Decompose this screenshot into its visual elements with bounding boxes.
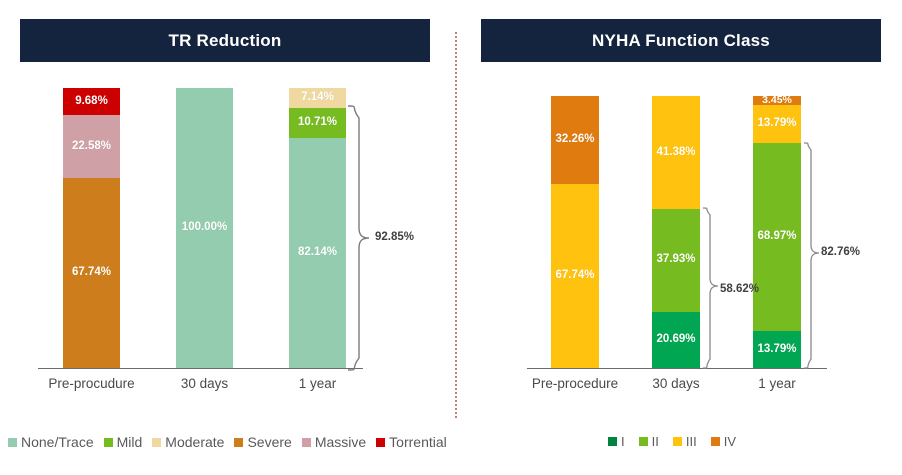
legend-item-mild[interactable]: Mild — [104, 434, 143, 450]
bar-segment-label: 32.26% — [555, 134, 594, 146]
bar-segment-none-trace[interactable]: 82.14% — [289, 138, 346, 368]
legend-item-class-ii[interactable]: II — [639, 434, 659, 449]
bar-segment-label: 22.58% — [72, 141, 111, 153]
bar-segment-label: 9.68% — [75, 96, 108, 108]
bar-segment-torrential[interactable]: 9.68% — [63, 88, 120, 115]
bar-segment-label: 13.79% — [757, 344, 796, 356]
x-axis-label-1-year: 1 year — [727, 376, 827, 391]
x-axis-label-30-days: 30 days — [626, 376, 726, 391]
bar-segment-mild[interactable]: 10.71% — [289, 108, 346, 138]
bar-segment-label: 20.69% — [656, 334, 695, 346]
bar-segment-label: 7.14% — [301, 92, 334, 104]
bar-segment-none-trace[interactable]: 100.00% — [176, 88, 233, 368]
legend-label: Moderate — [165, 434, 224, 450]
bar-segment-class-ii[interactable]: 68.97% — [753, 143, 801, 331]
x-axis-label-30-days: 30 days — [154, 376, 255, 391]
bar-pre-procedure[interactable]: 67.74% 32.26% — [551, 96, 599, 368]
chart-panel-tr-reduction: TR Reduction 67.74% 22.58% 9.68% 100.00% — [0, 0, 451, 475]
bar-30-days[interactable]: 20.69% 37.93% 41.38% — [652, 96, 700, 368]
bar-segment-class-iv[interactable]: 32.26% — [551, 96, 599, 184]
legend-item-torrential[interactable]: Torrential — [376, 434, 447, 450]
bar-segment-moderate[interactable]: 7.14% — [289, 88, 346, 108]
legend-item-moderate[interactable]: Moderate — [152, 434, 224, 450]
legend-label: Severe — [247, 434, 291, 450]
legend-swatch-icon — [8, 438, 17, 447]
annotation-brace-92-85 — [347, 104, 373, 372]
plot-area-nyha: 67.74% 32.26% 20.69% 37.93% 41.38% 13.79… — [451, 0, 902, 420]
annotation-label-92-85: 92.85% — [375, 231, 414, 243]
legend-label: Mild — [117, 434, 143, 450]
x-axis-label-pre-procudure: Pre-procudure — [41, 376, 142, 391]
bar-pre-procudure[interactable]: 67.74% 22.58% 9.68% — [63, 88, 120, 368]
bar-segment-class-iv[interactable]: 3.45% — [753, 96, 801, 105]
bar-segment-label: 82.14% — [298, 247, 337, 259]
legend-tr-reduction: None/Trace Mild Moderate Severe Massive … — [8, 434, 457, 450]
bar-segment-class-iii[interactable]: 41.38% — [652, 96, 700, 209]
legend-label: None/Trace — [21, 434, 94, 450]
annotation-brace-58-62 — [701, 206, 721, 370]
legend-swatch-icon — [608, 437, 617, 446]
legend-swatch-icon — [639, 437, 648, 446]
bar-segment-class-i[interactable]: 13.79% — [753, 331, 801, 369]
bar-segment-class-i[interactable]: 20.69% — [652, 312, 700, 368]
plot-area-tr-reduction: 67.74% 22.58% 9.68% 100.00% 82.14% 10.71… — [0, 0, 451, 420]
legend-swatch-icon — [302, 438, 311, 447]
bar-segment-class-iii[interactable]: 13.79% — [753, 105, 801, 143]
legend-swatch-icon — [152, 438, 161, 447]
legend-label: II — [652, 434, 659, 449]
chart-panel-nyha-function-class: NYHA Function Class 67.74% 32.26% 20.69%… — [451, 0, 902, 475]
bar-1-year[interactable]: 13.79% 68.97% 13.79% 3.45% — [753, 96, 801, 368]
x-axis-line — [527, 368, 827, 369]
legend-label: I — [621, 434, 625, 449]
annotation-label-82-76: 82.76% — [821, 246, 860, 258]
legend-swatch-icon — [711, 437, 720, 446]
legend-item-severe[interactable]: Severe — [234, 434, 291, 450]
bar-segment-class-iii[interactable]: 67.74% — [551, 184, 599, 368]
bar-1-year[interactable]: 82.14% 10.71% 7.14% — [289, 88, 346, 368]
legend-label: IV — [724, 434, 736, 449]
legend-item-class-i[interactable]: I — [608, 434, 625, 449]
bar-segment-label: 37.93% — [656, 254, 695, 266]
bar-segment-label: 67.74% — [555, 270, 594, 282]
legend-item-class-iii[interactable]: III — [673, 434, 697, 449]
x-axis-label-1-year: 1 year — [267, 376, 368, 391]
legend-label: Torrential — [389, 434, 447, 450]
legend-label: III — [686, 434, 697, 449]
bar-segment-label: 68.97% — [757, 231, 796, 243]
bar-30-days[interactable]: 100.00% — [176, 88, 233, 368]
bar-segment-class-ii[interactable]: 37.93% — [652, 209, 700, 312]
bar-segment-label: 100.00% — [182, 222, 227, 234]
legend-swatch-icon — [376, 438, 385, 447]
bar-segment-massive[interactable]: 22.58% — [63, 115, 120, 178]
bar-segment-label: 67.74% — [72, 267, 111, 279]
bar-segment-severe[interactable]: 67.74% — [63, 178, 120, 368]
x-axis-line — [38, 368, 363, 369]
bar-segment-label: 10.71% — [298, 117, 337, 129]
legend-swatch-icon — [234, 438, 243, 447]
x-axis-label-pre-procedure: Pre-procedure — [525, 376, 625, 391]
legend-item-massive[interactable]: Massive — [302, 434, 366, 450]
bar-segment-label: 41.38% — [656, 147, 695, 159]
legend-swatch-icon — [673, 437, 682, 446]
legend-swatch-icon — [104, 438, 113, 447]
legend-item-none-trace[interactable]: None/Trace — [8, 434, 94, 450]
legend-nyha: I II III IV — [608, 434, 750, 449]
annotation-brace-82-76 — [802, 141, 822, 370]
annotation-label-58-62: 58.62% — [720, 283, 759, 295]
bar-segment-label: 3.45% — [762, 95, 792, 106]
legend-item-class-iv[interactable]: IV — [711, 434, 736, 449]
legend-label: Massive — [315, 434, 366, 450]
bar-segment-label: 13.79% — [757, 118, 796, 130]
